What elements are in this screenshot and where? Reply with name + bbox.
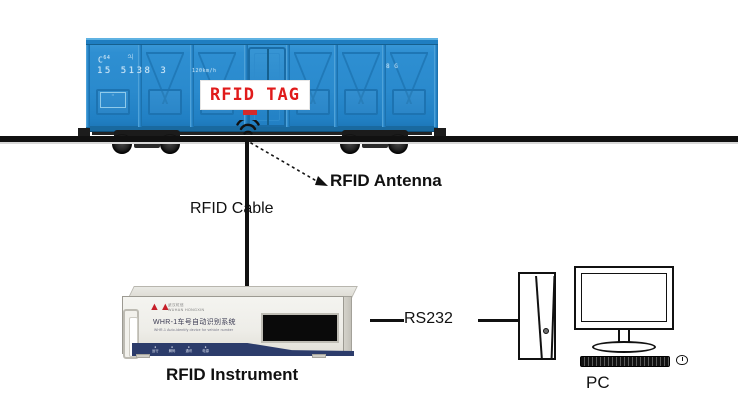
instrument-logo: ▲▲ 武汉虹信 WUHAN HONGXIN — [149, 301, 195, 313]
railcar-owner-code: C64 — [98, 56, 110, 65]
rfid-cable-label: RFID Cable — [190, 201, 274, 217]
railcar-speed-rating: 120km/h — [192, 69, 217, 74]
railcar-coupler — [434, 128, 446, 136]
instrument-brand-text: 武汉虹信 WUHAN HONGXIN — [168, 303, 205, 314]
rfid-tag-chip — [243, 110, 257, 115]
rfid-tag-label: RFID TAG — [210, 85, 300, 105]
pc-mouse-split — [682, 357, 683, 361]
indicator-comm-label: 通讯 — [186, 349, 193, 353]
railcar-coupler — [78, 128, 90, 136]
railcar-panel — [148, 89, 182, 115]
pc-mouse — [676, 355, 688, 365]
rfid-system-diagram: C64 15 5138 3 120km/h 8 G ▫▫ ♃ RFID TAG — [0, 0, 738, 408]
railcar-panel — [344, 89, 378, 115]
railcar-top-lip — [86, 38, 438, 45]
dotted-arrow-icon — [248, 140, 338, 192]
pc-monitor-base — [592, 341, 656, 353]
pc-tower — [518, 272, 556, 360]
rs232-label: RS232 — [404, 311, 453, 327]
indicator-run: ● 运行 — [152, 345, 159, 353]
pc-graphic — [518, 266, 690, 378]
load-limit-icon: ♃ — [126, 52, 138, 66]
indicator-power-label: 电源 — [202, 349, 209, 353]
indicator-decode-label: 解码 — [169, 349, 176, 353]
pc-keyboard — [580, 356, 670, 367]
rfid-antenna-label: RFID Antenna — [330, 172, 442, 189]
rfid-tag-plate: RFID TAG — [200, 80, 310, 110]
instrument-foot — [312, 354, 326, 358]
rs232-line-left — [370, 319, 404, 322]
instrument-front-panel: ▲▲ 武汉虹信 WUHAN HONGXIN WHR-1车号自动识别系统 WHR-… — [122, 296, 344, 354]
indicator-decode: ● 解码 — [169, 345, 176, 353]
pc-tower-bevel — [535, 276, 543, 360]
rfid-antenna-icon — [235, 120, 261, 138]
railcar-post — [86, 45, 90, 127]
railcar-stencil-box: ▫▫ — [100, 92, 126, 108]
railcar-right-plate: 8 G — [386, 62, 398, 71]
indicator-run-label: 运行 — [152, 349, 159, 353]
rail-track-shadow — [0, 142, 738, 144]
instrument-display-screen — [261, 313, 339, 343]
instrument-foot — [136, 354, 150, 358]
indicator-comm: ● 通讯 — [186, 345, 193, 353]
railcar-panel — [392, 89, 426, 115]
pc-monitor — [574, 266, 674, 330]
brand-line-2: WUHAN HONGXIN — [168, 308, 205, 313]
instrument-model-subtitle: WHR-1 Auto-identify device for vehicle n… — [154, 328, 233, 332]
rfid-instrument-graphic: ▲▲ 武汉虹信 WUHAN HONGXIN WHR-1车号自动识别系统 WHR-… — [114, 286, 352, 358]
instrument-model-title: WHR-1车号自动识别系统 — [153, 317, 236, 327]
rfid-instrument-label: RFID Instrument — [166, 366, 298, 383]
pc-tower-bevel-2 — [551, 276, 556, 360]
pc-monitor-screen — [581, 273, 667, 322]
brand-mark-icon: ▲▲ — [149, 302, 165, 312]
railcar-number: 15 5138 3 — [97, 67, 168, 76]
indicator-power: ● 电源 — [202, 345, 209, 353]
instrument-indicator-row: ● 运行 ● 解码 ● 通讯 ● 电源 — [152, 345, 209, 353]
pc-power-button-icon — [543, 328, 549, 334]
rs232-line-right — [478, 319, 518, 322]
railcar-owner-subscript: 64 — [103, 55, 110, 61]
